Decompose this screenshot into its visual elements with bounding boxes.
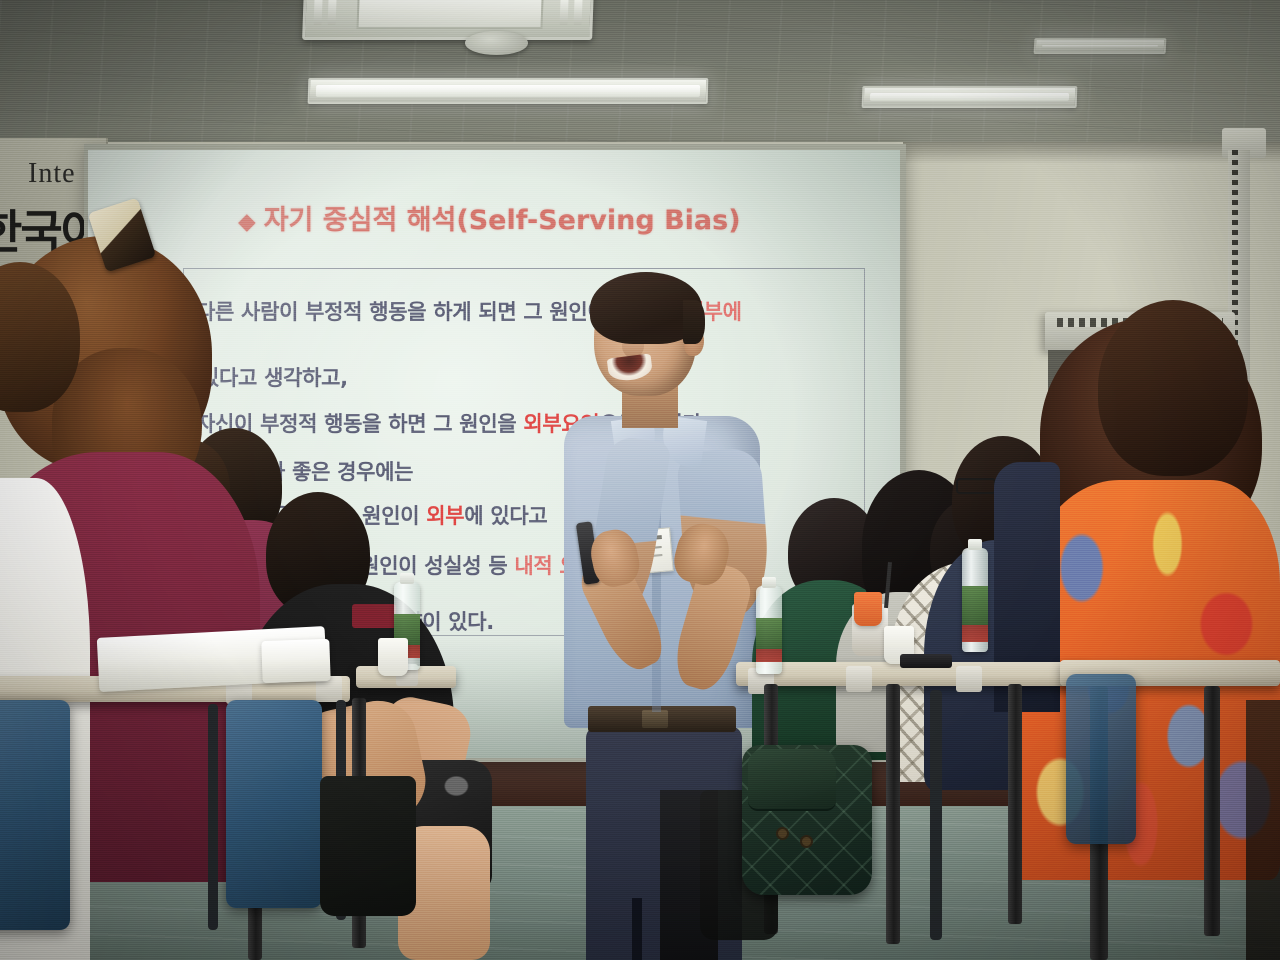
light-fixture-left xyxy=(1034,38,1167,54)
desk-clip xyxy=(956,666,982,692)
water-bottle-right-1 xyxy=(756,586,782,674)
diamond-bullet-icon: ◆ xyxy=(238,209,256,235)
backpack-buckle-icon xyxy=(800,835,813,848)
chair-frame xyxy=(208,704,218,930)
light-fixture-center xyxy=(308,78,709,104)
wall-banner-line1: Inte xyxy=(28,158,76,190)
collar-accent xyxy=(352,604,396,628)
lecture-hall-photo: Inte 한국어 ◆자기 중심적 해석(Self-Serving Bias) 다… xyxy=(0,0,1280,960)
slide-title-text: 자기 중심적 해석(Self-Serving Bias) xyxy=(264,205,741,236)
backpack-flap xyxy=(748,749,836,811)
rolled-paper-2 xyxy=(261,639,330,683)
eyeglasses-icon xyxy=(956,478,996,494)
presenter-leg-seam xyxy=(632,898,642,960)
desk-leg xyxy=(1204,686,1220,936)
light-fixture-right xyxy=(862,86,1078,108)
desk-leg xyxy=(1008,684,1022,924)
chair-right xyxy=(1066,674,1136,844)
presenter-hair xyxy=(590,272,702,344)
chair-left-mid xyxy=(226,700,322,908)
water-bottle-right-2 xyxy=(962,548,988,652)
backpack-buckle-icon xyxy=(776,827,789,840)
slide-title: ◆자기 중심적 해석(Self-Serving Bias) xyxy=(238,198,858,237)
desk-leg xyxy=(886,684,900,944)
chair-frame xyxy=(930,690,942,940)
bottle-label xyxy=(756,618,782,662)
ceiling xyxy=(0,0,1280,150)
ceiling-ac-diffuser-icon xyxy=(302,0,594,40)
bottle-label xyxy=(962,586,988,642)
presenter-belt xyxy=(588,706,736,732)
foreground-shadow-left xyxy=(660,790,718,960)
handbag-left xyxy=(320,776,416,916)
mobile-phone xyxy=(900,654,952,668)
green-plaid-backpack xyxy=(742,745,872,895)
foreground-shadow-right xyxy=(1246,700,1280,960)
ceiling-tile-texture xyxy=(0,0,1280,150)
paper-cup-right-2 xyxy=(854,592,882,626)
smoke-detector-icon xyxy=(465,31,528,55)
desk-clip xyxy=(846,666,872,692)
slide-line-2: 있다고 생각하고, xyxy=(200,362,348,392)
paper-cup-left xyxy=(378,638,408,676)
chair-left-front xyxy=(0,700,70,930)
